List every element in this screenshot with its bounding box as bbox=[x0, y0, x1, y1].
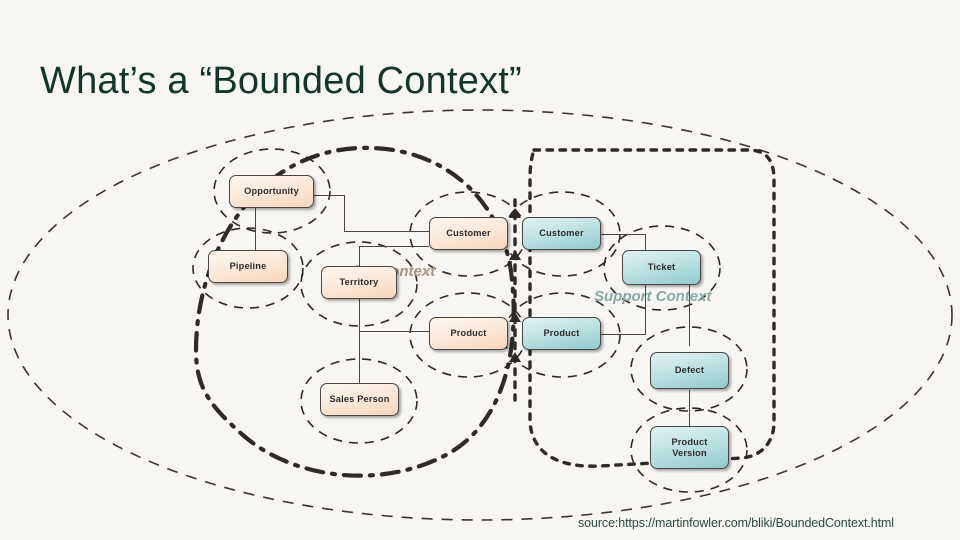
support-context-label: Support Context bbox=[594, 288, 712, 305]
edge-defect-productversion bbox=[689, 390, 690, 427]
edge-customer-support-ticket bbox=[596, 234, 646, 235]
outer-domain-boundary bbox=[8, 110, 952, 520]
edge-opportunity-customer bbox=[313, 195, 345, 196]
edge-territory-product bbox=[359, 331, 429, 332]
node-label: Pipeline bbox=[230, 261, 267, 272]
node-label: Territory bbox=[340, 277, 379, 288]
node-label: Ticket bbox=[648, 262, 676, 273]
edge-customer-in bbox=[344, 231, 429, 232]
page-title: What’s a “Bounded Context” bbox=[40, 60, 522, 103]
node-product-support[interactable]: Product bbox=[522, 317, 601, 350]
node-pipeline[interactable]: Pipeline bbox=[208, 250, 288, 283]
node-customer-support[interactable]: Customer bbox=[522, 217, 601, 250]
node-customer-sales[interactable]: Customer bbox=[429, 217, 508, 250]
node-label: Customer bbox=[539, 228, 583, 239]
bounded-context-diagram: Sales Context Support Context Opportunit… bbox=[0, 100, 960, 540]
edge-opportunity-customer-drop bbox=[344, 195, 345, 232]
edge-ticket-product bbox=[596, 334, 646, 335]
edge-ticket-product-drop bbox=[645, 284, 646, 335]
node-product-sales[interactable]: Product bbox=[429, 317, 508, 350]
node-label: Defect bbox=[675, 365, 704, 376]
edge-opportunity-pipeline bbox=[255, 208, 256, 251]
node-label: Product Version bbox=[671, 437, 707, 458]
edge-ticket-defect bbox=[689, 284, 690, 346]
node-defect[interactable]: Defect bbox=[650, 352, 729, 389]
node-label: Opportunity bbox=[244, 186, 299, 197]
node-opportunity[interactable]: Opportunity bbox=[229, 175, 314, 208]
node-ticket[interactable]: Ticket bbox=[622, 250, 701, 285]
node-label: Product bbox=[543, 328, 579, 339]
source-citation: source:https://martinfowler.com/bliki/Bo… bbox=[578, 516, 894, 530]
node-territory[interactable]: Territory bbox=[321, 266, 397, 299]
node-label: Customer bbox=[446, 228, 490, 239]
node-label: Sales Person bbox=[329, 394, 389, 405]
node-label: Product bbox=[450, 328, 486, 339]
slide-canvas: What’s a “Bounded Context” bbox=[0, 0, 960, 540]
node-product-version[interactable]: Product Version bbox=[650, 426, 729, 469]
edge-territory-customer bbox=[359, 246, 429, 247]
node-sales-person[interactable]: Sales Person bbox=[320, 383, 399, 416]
support-context-boundary bbox=[530, 150, 774, 466]
